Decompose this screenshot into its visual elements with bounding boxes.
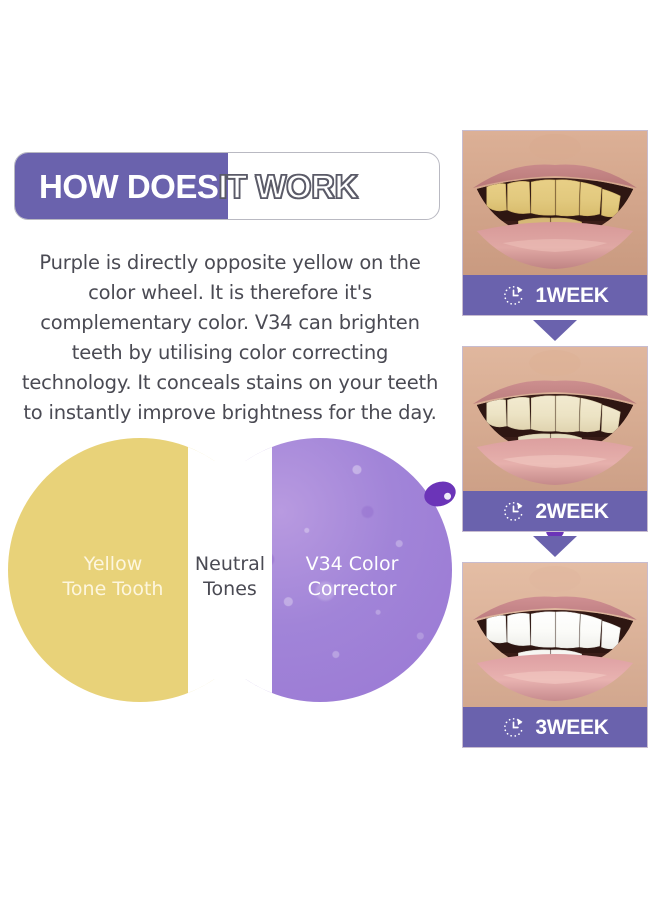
venn-label-yellow-tone-tooth: Yellow Tone Tooth: [28, 552, 198, 602]
venn-diagram: Yellow Tone Tooth Neutral Tones V34 Colo…: [8, 438, 452, 706]
week-label: 3WEEK: [535, 717, 608, 738]
clock-rotate-icon: [501, 283, 526, 308]
foam-bubble-icon: [421, 478, 459, 511]
venn-label-purple-line1: V34 Color: [264, 552, 440, 577]
venn-label-yellow-line1: Yellow: [28, 552, 198, 577]
timeline-step-2: 2WEEK: [462, 346, 648, 532]
venn-label-yellow-line2: Tone Tooth: [28, 577, 198, 602]
week-label: 2WEEK: [535, 501, 608, 522]
header-title-outline: IT WORK: [218, 170, 357, 203]
header-title-solid: HOW DOES: [39, 170, 218, 203]
arrow-down-icon-2: [462, 532, 648, 562]
clock-rotate-icon: [501, 499, 526, 524]
smile-photo-week-3: [463, 563, 647, 707]
venn-label-purple-line2: Corrector: [264, 577, 440, 602]
description-paragraph: Purple is directly opposite yellow on th…: [16, 248, 444, 428]
timeline-step-1: 1WEEK: [462, 130, 648, 316]
results-timeline: 1WEEK: [462, 130, 648, 748]
week-badge-2: 2WEEK: [463, 491, 647, 531]
smile-photo-week-2: [463, 347, 647, 491]
week-label: 1WEEK: [535, 285, 608, 306]
arrow-down-icon-1: [462, 316, 648, 346]
week-badge-3: 3WEEK: [463, 707, 647, 747]
header-title: HOW DOES IT WORK: [15, 153, 439, 219]
week-badge-1: 1WEEK: [463, 275, 647, 315]
smile-photo-week-1: [463, 131, 647, 275]
header-banner: HOW DOES IT WORK: [14, 152, 440, 220]
clock-rotate-icon: [501, 715, 526, 740]
timeline-step-3: 3WEEK: [462, 562, 648, 748]
infographic-canvas: HOW DOES IT WORK Purple is directly oppo…: [0, 0, 660, 904]
venn-label-v34-color-corrector: V34 Color Corrector: [264, 552, 440, 602]
